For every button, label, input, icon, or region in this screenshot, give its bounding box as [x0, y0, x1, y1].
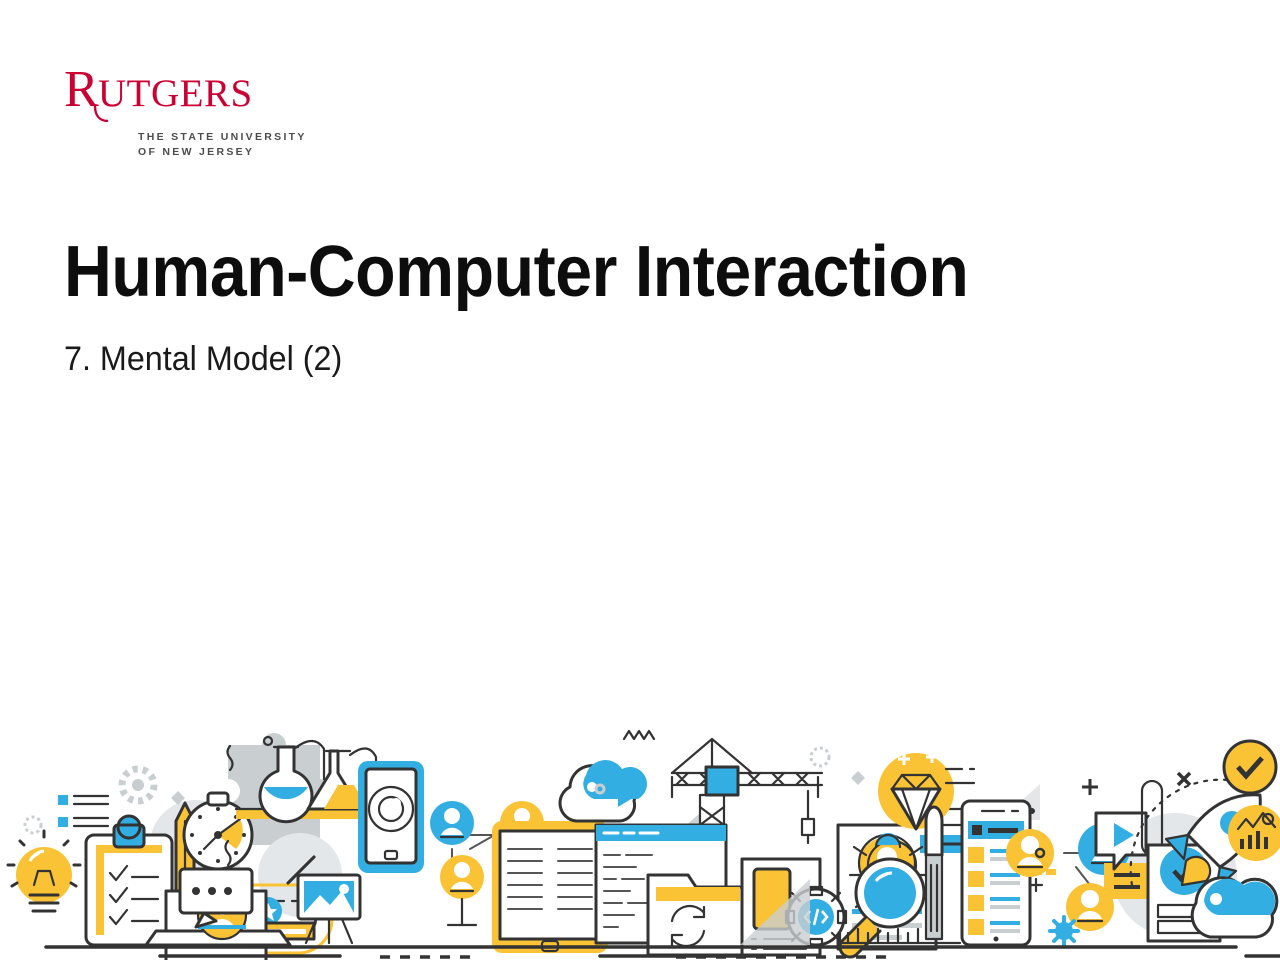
illustration-canvas: .ln { fill:none; stroke:#333; stroke-wid…: [0, 725, 1280, 960]
cloud-icon-right: [1192, 878, 1277, 937]
dotted-circle-icon: [25, 817, 41, 833]
list-lines-icon: [58, 795, 108, 827]
svg-text:UTGERS: UTGERS: [98, 72, 253, 115]
rutgers-logo: R UTGERS THE STATE UNIVERSITY OF NEW JER…: [64, 60, 364, 165]
page-subtitle: 7. Mental Model (2): [64, 308, 1138, 376]
checklist-clipboard-icon: [86, 816, 172, 945]
svg-text:R: R: [64, 61, 99, 118]
note-badge-icon: [1104, 863, 1150, 899]
page-title: Human-Computer Interaction: [64, 236, 1104, 308]
footer-illustration: .ln { fill:none; stroke:#333; stroke-wid…: [0, 725, 1280, 960]
gear-small-icon: [1050, 917, 1078, 945]
book-tablet-icon: [492, 821, 608, 953]
check-badge-icon: [1224, 741, 1276, 793]
screwdriver-icon: [926, 807, 942, 939]
dotted-circle-2: [811, 748, 829, 766]
gear-icon-left: [122, 769, 154, 801]
tagline-line-2: OF NEW JERSEY: [138, 145, 368, 160]
wave-icon: [624, 731, 654, 739]
title-block: Human-Computer Interaction 7. Mental Mod…: [64, 236, 1194, 376]
rutgers-tagline: THE STATE UNIVERSITY OF NEW JERSEY: [138, 130, 368, 160]
lightbulb-icon: [8, 831, 80, 911]
rutgers-wordmark: R UTGERS: [64, 60, 300, 122]
diamond-dot-2: [851, 771, 865, 785]
tablet-camera-icon: [358, 761, 424, 873]
title-slide: R UTGERS THE STATE UNIVERSITY OF NEW JER…: [0, 0, 1280, 960]
tagline-line-1: THE STATE UNIVERSITY: [138, 130, 368, 145]
folder-sync-icon: [648, 875, 754, 955]
